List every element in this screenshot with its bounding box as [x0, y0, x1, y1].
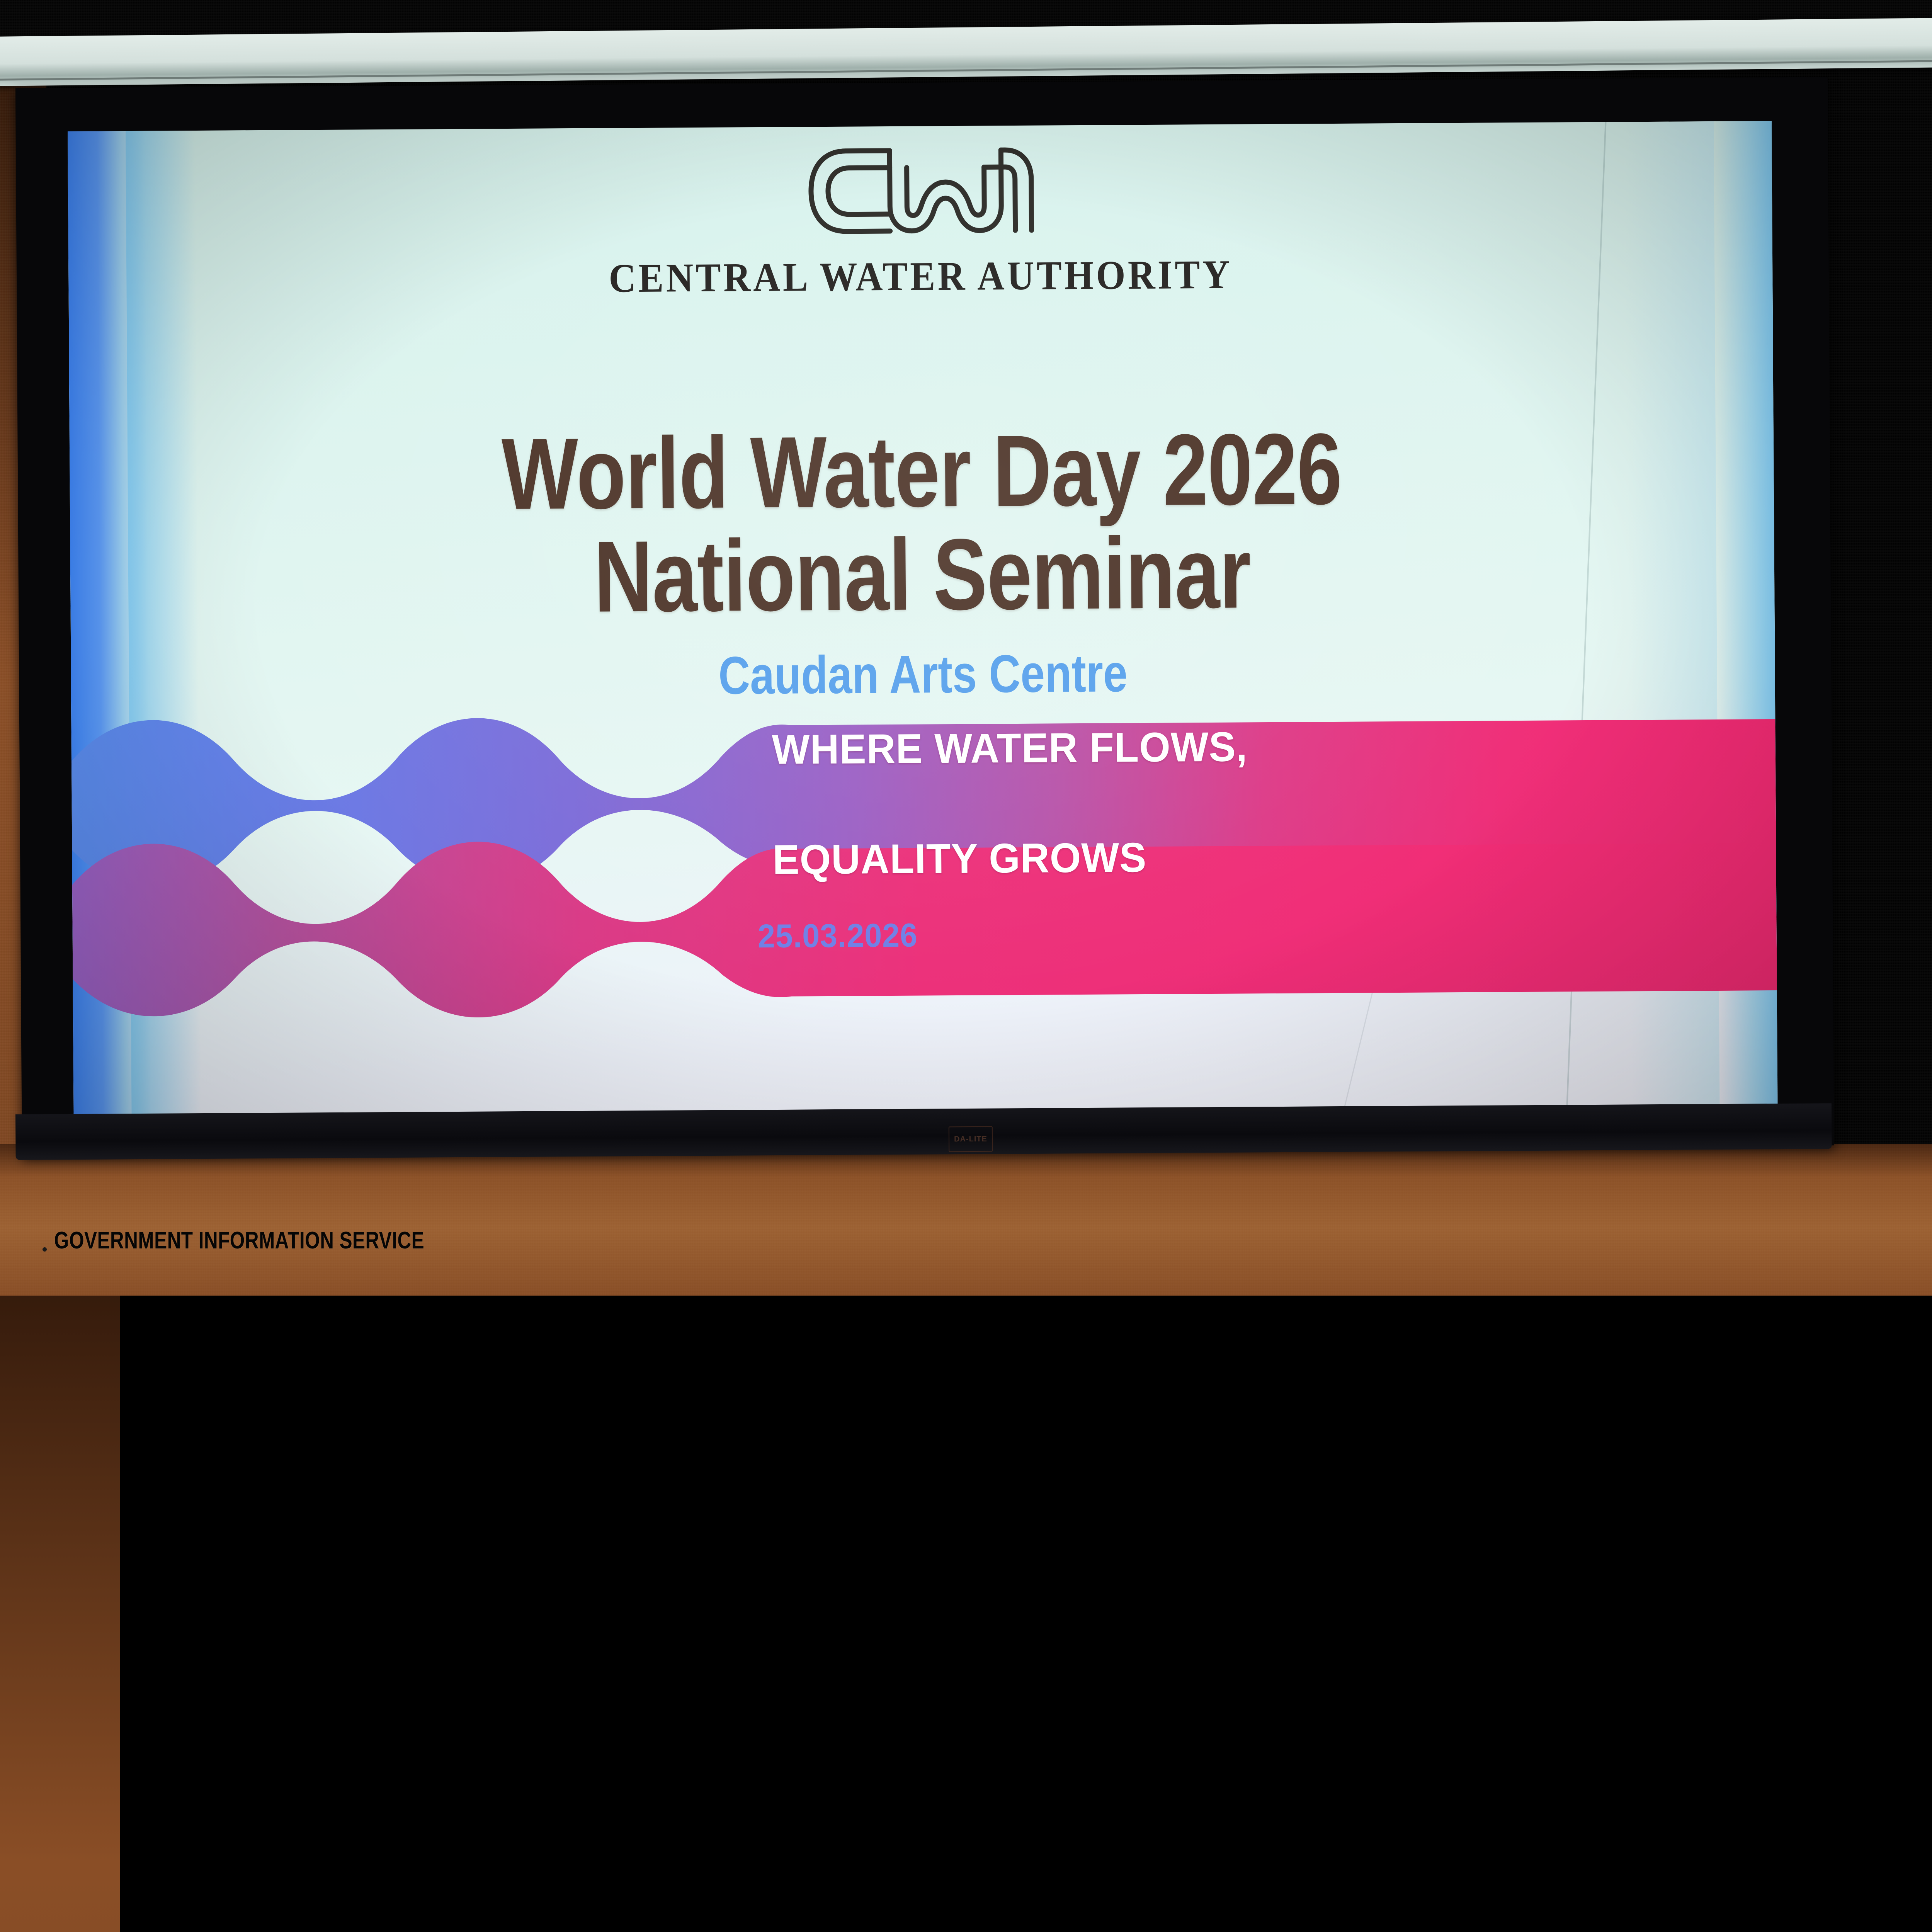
watermark-dot: [43, 1247, 47, 1252]
title-block: World Water Day 2026 National Seminar Ca…: [70, 415, 1775, 711]
dalite-brand-label: DA-LITE: [949, 1126, 993, 1152]
slogan-line-2: EQUALITY GROWS: [772, 829, 1756, 884]
logo-block: CENTRAL WATER AUTHORITY: [68, 134, 1772, 305]
page-title-line-1: World Water Day 2026: [240, 416, 1604, 527]
room-scene: CENTRAL WATER AUTHORITY World Water Day …: [0, 0, 1932, 1296]
wall-bottom: [0, 1144, 1932, 1296]
page-title-line-2: National Seminar: [240, 519, 1604, 631]
wall-right: [0, 1238, 120, 1932]
logo-wordmark: CENTRAL WATER AUTHORITY: [609, 251, 1232, 302]
cwa-monogram-icon: [800, 139, 1040, 243]
housing-seam: [0, 60, 1932, 81]
government-information-service-watermark: GOVERNMENT INFORMATION SERVICE: [54, 1227, 424, 1254]
event-date: 25.03.2026: [758, 917, 918, 956]
slogan-line-1: WHERE WATER FLOWS,: [772, 719, 1755, 774]
slogan-block: WHERE WATER FLOWS, EQUALITY GROWS: [751, 719, 1776, 884]
presentation-slide: CENTRAL WATER AUTHORITY World Water Day …: [68, 121, 1778, 1121]
